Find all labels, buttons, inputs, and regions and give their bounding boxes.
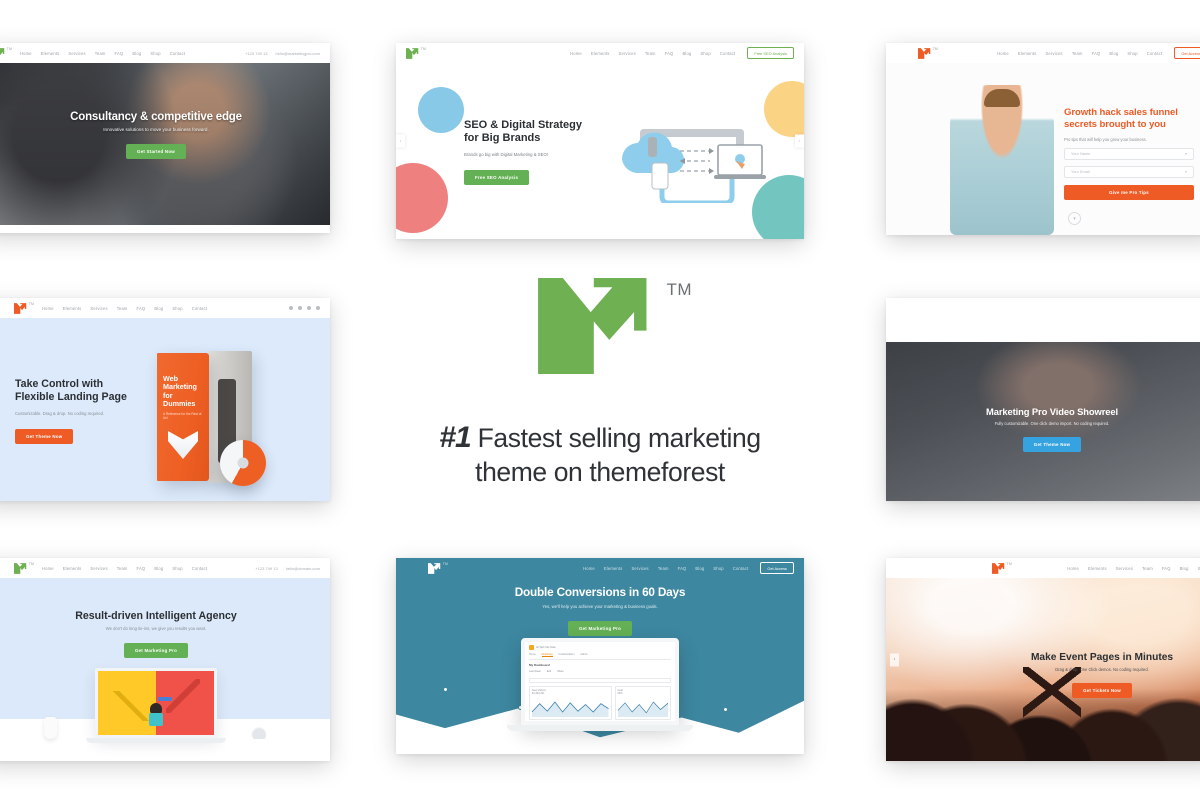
nav-item-faq[interactable]: FAQ <box>137 566 146 571</box>
convert-headline: Double Conversions in 60 Days <box>396 585 804 599</box>
dashboard-title: My Dashboard <box>529 663 671 667</box>
consultancy-navbar[interactable]: TM Home Elements Services Team FAQ Blog … <box>0 43 330 63</box>
showreel-topbar <box>886 298 1200 342</box>
consultancy-cta-wrap: Get Started Now <box>0 140 330 159</box>
nav-item-home[interactable]: Home <box>20 51 32 56</box>
mountain-node <box>443 687 448 692</box>
showreel-subtitle: Fully customizable. One click demo impor… <box>886 421 1200 426</box>
brand-rank-number: #1 <box>439 421 470 454</box>
nav-item-elements[interactable]: Elements <box>1018 51 1037 56</box>
dashboard-search-bar[interactable] <box>529 678 671 683</box>
analytics-icon <box>529 645 534 650</box>
nav-get-access-button[interactable]: Get Access <box>760 562 794 574</box>
carousel-next-button[interactable]: › <box>795 135 804 148</box>
dashboard-widgets: New Visitors $1,344,201 <box>529 686 671 720</box>
landing-navbar[interactable]: TM Home Elements Services Team FAQ Blog … <box>0 298 330 318</box>
demo-panel-seo[interactable]: SEO & Digital Strategy for Big Brands Br… <box>396 43 804 239</box>
dashboard-toolbar[interactable]: Last Week Edit Share <box>529 670 671 675</box>
consultancy-headline: Consultancy & competitive edge <box>0 111 330 123</box>
showreel-cta-wrap: Get Theme Now <box>886 433 1200 452</box>
tab-reporting[interactable]: Reporting <box>542 653 553 657</box>
theme-showcase-collage: TM Home Elements Services Team FAQ Blog … <box>0 0 1200 800</box>
nav-item-elements[interactable]: Elements <box>63 306 82 311</box>
plant-decoration <box>250 725 268 739</box>
nav-item-team[interactable]: Team <box>645 51 656 56</box>
growth-hero-photo <box>950 85 1054 235</box>
nav-item-home[interactable]: Home <box>1067 566 1079 571</box>
nav-item-services[interactable]: Services <box>90 566 107 571</box>
logo-icon[interactable]: TM <box>0 48 6 59</box>
decor-circle-blue <box>418 87 464 133</box>
nav-free-seo-analysis-button[interactable]: Free SEO Analysis <box>747 47 794 59</box>
email-icon-label[interactable]: hello@domain.com <box>286 566 320 571</box>
painter-torso <box>149 713 163 726</box>
chevron-down-icon: ▾ <box>1185 169 1187 174</box>
event-headline: Make Event Pages in Minutes <box>1002 652 1200 663</box>
laptop-base <box>86 738 226 743</box>
logo-icon[interactable]: TM <box>14 303 28 314</box>
mountain-node <box>723 707 728 712</box>
nav-item-services[interactable]: Services <box>619 51 636 56</box>
email-field[interactable]: Your Email ▾ <box>1064 166 1194 178</box>
convert-subtitle: Yes, we'll help you achieve your marketi… <box>396 604 804 609</box>
event-hero-content: Make Event Pages in Minutes Drag & drop.… <box>1002 652 1200 698</box>
seo-subtitle: Brands go big with Digital Marketing & S… <box>464 152 584 157</box>
nav-item-faq[interactable]: FAQ <box>115 51 124 56</box>
nav-item-services[interactable]: Services <box>90 306 107 311</box>
convert-hero-content: Double Conversions in 60 Days Yes, we'll… <box>396 585 804 636</box>
paint-roller-icon <box>158 697 172 701</box>
nav-item-services[interactable]: Services <box>1116 566 1133 571</box>
free-seo-analysis-button[interactable]: Free SEO Analysis <box>464 170 529 185</box>
painter-character <box>148 703 164 737</box>
nav-item-home[interactable]: Home <box>583 566 595 571</box>
convert-body: Double Conversions in 60 Days Yes, we'll… <box>396 558 804 754</box>
carousel-prev-button[interactable]: ‹ <box>396 135 405 148</box>
laptop-screen: All Web Site Data Home Reporting Customi… <box>521 638 679 725</box>
toolbar-last-week[interactable]: Last Week <box>529 670 541 673</box>
trademark-mark: TM <box>29 302 34 306</box>
trademark-mark: TM <box>29 562 34 566</box>
nav-item-blog[interactable]: Blog <box>682 51 691 56</box>
demo-panel-agency[interactable]: Result-driven Intelligent Agency We don'… <box>0 558 330 761</box>
agency-navbar[interactable]: TM Home Elements Services Team FAQ Blog … <box>0 558 330 578</box>
get-marketing-pro-button[interactable]: Get Marketing Pro <box>568 621 632 636</box>
nav-item-services[interactable]: Services <box>1046 51 1063 56</box>
phone-icon-label[interactable]: +123 749 13 <box>255 566 277 571</box>
seo-body: SEO & Digital Strategy for Big Brands Br… <box>396 63 804 239</box>
nav-item-team[interactable]: Team <box>658 566 669 571</box>
nav-item-team[interactable]: Team <box>1072 51 1083 56</box>
nav-item-elements[interactable]: Elements <box>41 51 60 56</box>
nav-item-team[interactable]: Team <box>117 306 128 311</box>
nav-item-blog[interactable]: Blog <box>1109 51 1118 56</box>
showreel-headline: Marketing Pro Video Showreel <box>886 406 1200 417</box>
nav-item-faq[interactable]: FAQ <box>665 51 674 56</box>
nav-item-blog[interactable]: Blog <box>1180 566 1189 571</box>
laptop-dashboard-mockup: All Web Site Data Home Reporting Customi… <box>521 638 679 731</box>
nav-item-blog[interactable]: Blog <box>154 566 163 571</box>
trademark-mark: TM <box>421 47 426 51</box>
nav-item-faq[interactable]: FAQ <box>678 566 687 571</box>
nav-item-elements[interactable]: Elements <box>591 51 610 56</box>
widget-value: 24% <box>618 692 669 695</box>
get-started-now-button[interactable]: Get Started Now <box>126 144 186 159</box>
nav-item-shop[interactable]: Shop <box>172 566 182 571</box>
convert-nav-items[interactable]: Home Elements Services Team FAQ Blog Sho… <box>583 566 748 571</box>
seo-cta-wrap: Free SEO Analysis <box>464 166 584 185</box>
event-cta-wrap: Get Tickets Now <box>1002 679 1200 698</box>
nav-item-elements[interactable]: Elements <box>1088 566 1107 571</box>
nav-item-contact[interactable]: Contact <box>733 566 749 571</box>
agency-body: Result-driven Intelligent Agency We don'… <box>0 578 330 761</box>
brand-logo-icon: TM <box>538 278 662 379</box>
phone-icon-label[interactable]: +123 749 13 <box>245 51 267 56</box>
showreel-hero-content: Marketing Pro Video Showreel Fully custo… <box>886 406 1200 452</box>
get-theme-now-button[interactable]: Get Theme Now <box>1023 437 1081 452</box>
growth-hero-content: Growth hack sales funnel secrets brought… <box>1064 107 1194 200</box>
growth-subtitle: Pro tips that will help you grow your bu… <box>1064 137 1194 142</box>
nav-item-shop[interactable]: Shop <box>1127 51 1137 56</box>
email-icon-label[interactable]: hello@marketingpro.com <box>275 51 320 56</box>
widget-line-chart <box>532 697 609 717</box>
event-navbar[interactable]: TM Home Elements Services Team FAQ Blog … <box>886 558 1200 578</box>
growth-headline: Growth hack sales funnel secrets brought… <box>1064 107 1194 132</box>
nav-item-contact[interactable]: Contact <box>170 51 186 56</box>
vase-decoration <box>44 717 57 739</box>
agency-cta-wrap: Get Marketing Pro <box>0 639 330 658</box>
laptop-illustration <box>95 668 217 743</box>
brand-tagline-line2: theme on themeforest <box>475 457 725 487</box>
nav-item-shop[interactable]: Shop <box>700 51 710 56</box>
growth-nav-items[interactable]: Home Elements Services Team FAQ Blog Sho… <box>997 51 1162 56</box>
screen-right-red <box>156 671 214 735</box>
nav-item-home[interactable]: Home <box>42 306 54 311</box>
email-field-placeholder: Your Email <box>1071 169 1090 174</box>
convert-cta-wrap: Get Marketing Pro <box>396 617 804 636</box>
chevron-down-icon: ▾ <box>1185 151 1187 156</box>
nav-item-home[interactable]: Home <box>570 51 582 56</box>
consultancy-subtitle: Innovative solutions to move your busine… <box>0 127 330 132</box>
decor-circle-yellow <box>764 81 804 137</box>
nav-item-team[interactable]: Team <box>1142 566 1153 571</box>
trademark-mark: TM <box>443 562 448 566</box>
laptop-base <box>507 725 693 731</box>
event-subtitle: Drag & drop. One Click demos. No coding … <box>1002 667 1200 672</box>
decor-circle-red <box>396 163 448 233</box>
agency-nav-items[interactable]: Home Elements Services Team FAQ Blog Sho… <box>42 566 207 571</box>
agency-hero-content: Result-driven Intelligent Agency We don'… <box>0 610 330 658</box>
nav-item-services[interactable]: Services <box>68 51 85 56</box>
trademark-mark: TM <box>933 47 938 51</box>
nav-item-blog[interactable]: Blog <box>695 566 704 571</box>
brand-tagline-line1: Fastest selling marketing <box>478 423 761 453</box>
trademark-mark: TM <box>1007 562 1012 566</box>
nav-item-services[interactable]: Services <box>632 566 649 571</box>
facebook-icon[interactable] <box>289 306 293 310</box>
agency-subtitle: We don't do long tie-ins, we give you re… <box>0 626 330 631</box>
carousel-prev-button[interactable]: ‹ <box>890 653 899 666</box>
nav-item-home[interactable]: Home <box>997 51 1009 56</box>
trademark-mark: TM <box>7 47 12 51</box>
seo-headline: SEO & Digital Strategy for Big Brands <box>464 119 584 146</box>
nav-item-shop[interactable]: Shop <box>713 566 723 571</box>
nav-item-faq[interactable]: FAQ <box>1162 566 1171 571</box>
growth-cta-wrap: Give me Pro Tips <box>1064 185 1194 200</box>
logo-icon[interactable]: TM <box>14 563 28 574</box>
agency-headline: Result-driven Intelligent Agency <box>0 610 330 622</box>
tab-customization[interactable]: Customization <box>559 653 575 657</box>
seo-nav-items[interactable]: Home Elements Services Team FAQ Blog Sho… <box>570 51 735 56</box>
logo-icon[interactable]: TM <box>406 48 420 59</box>
nav-item-shop[interactable]: Shop <box>150 51 160 56</box>
demo-panel-growth-hack[interactable]: Growth hack sales funnel secrets brought… <box>886 43 1200 235</box>
demo-panel-consultancy[interactable]: TM Home Elements Services Team FAQ Blog … <box>0 43 330 233</box>
nav-item-contact[interactable]: Contact <box>720 51 736 56</box>
get-marketing-pro-button[interactable]: Get Marketing Pro <box>124 643 188 658</box>
widget-line-chart <box>618 697 669 717</box>
dashboard-tabs[interactable]: Home Reporting Customization Admin <box>529 653 671 660</box>
widget-new-visitors[interactable]: New Visitors $1,344,201 <box>529 686 612 720</box>
trademark-mark: TM <box>666 280 692 300</box>
social-icon-row[interactable] <box>289 306 320 310</box>
toolbar-share[interactable]: Share <box>557 670 564 673</box>
get-tickets-now-button[interactable]: Get Tickets Now <box>1072 683 1132 698</box>
tab-home[interactable]: Home <box>529 653 536 657</box>
consultancy-contact-info: +123 749 13 hello@marketingpro.com <box>245 51 320 56</box>
name-field-placeholder: Your Name <box>1071 151 1090 156</box>
nav-item-team[interactable]: Team <box>95 51 106 56</box>
nav-get-access-button[interactable]: Get Access <box>1174 47 1200 59</box>
consultancy-nav-items[interactable]: Home Elements Services Team FAQ Blog Sho… <box>20 51 185 56</box>
demo-panel-event-pages[interactable]: TM Home Elements Services Team FAQ Blog … <box>886 558 1200 761</box>
tab-admin[interactable]: Admin <box>580 653 587 657</box>
dashboard-account-row: All Web Site Data <box>529 645 671 650</box>
name-field[interactable]: Your Name ▾ <box>1064 148 1194 160</box>
nav-item-blog[interactable]: Blog <box>132 51 141 56</box>
nav-item-blog[interactable]: Blog <box>154 306 163 311</box>
seo-illustration <box>618 123 768 203</box>
growth-navbar[interactable]: TM Home Elements Services Team FAQ Blog … <box>886 43 1200 63</box>
growth-body: Growth hack sales funnel secrets brought… <box>886 63 1200 235</box>
nav-item-faq[interactable]: FAQ <box>1092 51 1101 56</box>
nav-item-elements[interactable]: Elements <box>63 566 82 571</box>
widget-value: $1,344,201 <box>532 692 609 695</box>
agency-contact-info: +123 749 13 hello@domain.com <box>255 566 320 571</box>
logo-icon[interactable]: TM <box>992 563 1006 574</box>
give-me-pro-tips-button[interactable]: Give me Pro Tips <box>1064 185 1194 200</box>
nav-item-contact[interactable]: Contact <box>1147 51 1163 56</box>
nav-item-contact[interactable]: Contact <box>192 306 208 311</box>
widget-goal[interactable]: Goal 24% <box>615 686 672 720</box>
landing-nav-items[interactable]: Home Elements Services Team FAQ Blog Sho… <box>42 306 207 311</box>
scroll-down-button[interactable]: ▾ <box>1068 212 1081 225</box>
nav-item-elements[interactable]: Elements <box>604 566 623 571</box>
consultancy-hero-content: Consultancy & competitive edge Innovativ… <box>0 111 330 159</box>
twitter-icon[interactable] <box>298 306 302 310</box>
convert-navbar[interactable]: TM Home Elements Services Team FAQ Blog … <box>396 558 804 578</box>
nav-item-contact[interactable]: Contact <box>192 566 208 571</box>
nav-item-shop[interactable]: Shop <box>172 306 182 311</box>
dribbble-icon[interactable] <box>316 306 320 310</box>
seo-hero-content: SEO & Digital Strategy for Big Brands Br… <box>464 119 584 185</box>
nav-item-team[interactable]: Team <box>117 566 128 571</box>
seo-navbar[interactable]: TM Home Elements Services Team FAQ Blog … <box>396 43 804 63</box>
laptop-screen <box>95 668 217 738</box>
logo-icon[interactable]: TM <box>918 48 932 59</box>
nav-item-home[interactable]: Home <box>42 566 54 571</box>
dashboard-account-name[interactable]: All Web Site Data <box>536 646 556 649</box>
analytics-dashboard: All Web Site Data Home Reporting Customi… <box>525 642 675 725</box>
logo-icon[interactable]: TM <box>428 563 442 574</box>
event-nav-items[interactable]: Home Elements Services Team FAQ Blog Sho… <box>1067 566 1200 571</box>
demo-panel-conversions[interactable]: Double Conversions in 60 Days Yes, we'll… <box>396 558 804 754</box>
instagram-icon[interactable] <box>307 306 311 310</box>
nav-item-faq[interactable]: FAQ <box>137 306 146 311</box>
toolbar-edit[interactable]: Edit <box>547 670 551 673</box>
